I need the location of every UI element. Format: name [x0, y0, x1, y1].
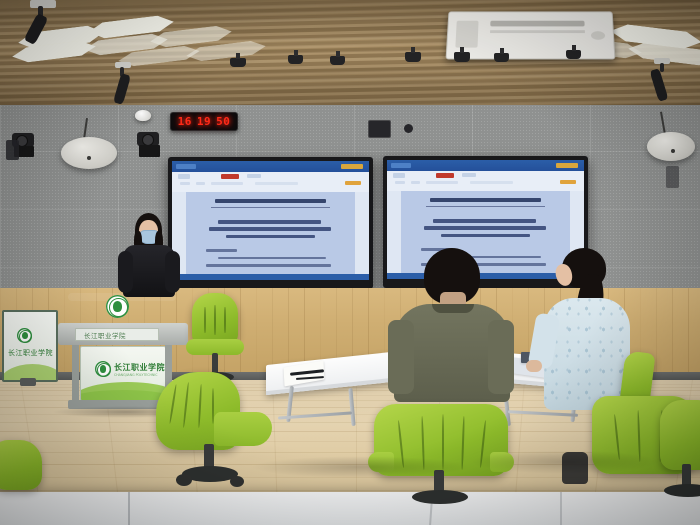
speaker-arm-right	[165, 251, 180, 293]
ribbon-button[interactable]	[180, 182, 190, 186]
ceiling-speaker	[330, 56, 345, 65]
led-clock: 16 19 50	[170, 112, 238, 131]
chair-slit	[214, 305, 216, 335]
green-plastic-chair[interactable]	[0, 440, 48, 500]
attendee-arm-right	[488, 320, 514, 394]
acoustic-reflector-dish	[61, 137, 117, 169]
person-speaker	[113, 213, 185, 305]
institution-logo	[95, 361, 111, 377]
title-bar-tab	[341, 164, 363, 170]
chair-slit	[224, 307, 226, 333]
foreground-table[interactable]	[0, 492, 700, 525]
ribbon-button[interactable]	[393, 173, 405, 177]
title-bar-tab	[176, 164, 196, 170]
standing-banner: 长江职业学院	[2, 310, 58, 382]
clock-minutes: 19	[197, 115, 211, 128]
title-bar-tab	[391, 163, 411, 169]
word-ribbon[interactable]	[387, 171, 584, 192]
attendee2-hand	[526, 360, 542, 372]
word-status-bar	[172, 274, 369, 280]
speaker-arm-left	[118, 251, 133, 293]
logo-core	[22, 332, 28, 339]
ribbon-button[interactable]	[178, 174, 190, 178]
ribbon-button[interactable]	[196, 182, 206, 186]
chair-back	[0, 440, 42, 490]
wall-speaker-left	[6, 140, 19, 160]
ceiling-speaker	[566, 50, 581, 59]
podium-leg	[72, 345, 79, 403]
institution-logo	[17, 328, 32, 343]
wood-grain-line	[256, 288, 257, 378]
word-title-bar	[387, 160, 584, 171]
ac-grill	[490, 21, 584, 27]
ribbon-button[interactable]	[411, 181, 421, 185]
doc-body-line	[206, 264, 331, 267]
green-plastic-chair[interactable]	[660, 400, 700, 500]
ribbon-button-accent[interactable]	[560, 180, 576, 184]
wood-grain-line	[0, 288, 1, 378]
doc-title-line	[218, 220, 321, 224]
logo-core	[100, 365, 106, 372]
green-swivel-chair[interactable]	[152, 370, 276, 500]
ribbon-button[interactable]	[470, 181, 513, 185]
word-ribbon[interactable]	[172, 172, 369, 193]
clock-seconds: 50	[216, 115, 230, 128]
ribbon-button[interactable]	[255, 182, 298, 186]
attendee-collar	[432, 304, 474, 313]
doc-title-line	[441, 234, 529, 238]
wall-control-box	[368, 120, 391, 138]
chair-slit	[212, 388, 214, 424]
ribbon-button[interactable]	[426, 181, 458, 185]
wall-speaker-right	[666, 166, 679, 188]
dish-hole	[671, 149, 675, 153]
clock-hours: 16	[178, 115, 192, 128]
ribbon-button[interactable]	[462, 173, 476, 177]
ceiling-speaker	[454, 52, 470, 62]
left-display-screen[interactable]	[172, 161, 369, 280]
chair-back	[660, 400, 700, 470]
word-title-bar	[172, 161, 369, 172]
ribbon-button-accent[interactable]	[436, 173, 454, 178]
camera-mount	[139, 145, 160, 157]
acoustic-reflector-dish	[647, 132, 695, 161]
chair-slit	[204, 307, 206, 333]
podium-name-plate-text: 长江职业学院	[84, 330, 126, 340]
ribbon-button-accent[interactable]	[345, 181, 361, 185]
ptz-camera	[137, 132, 159, 146]
person-attendee-center	[388, 248, 516, 408]
foreground-table-seam	[560, 492, 562, 525]
doc-header-line	[215, 199, 327, 203]
dish-hole	[87, 156, 91, 160]
podium-name-plate: 长江职业学院	[75, 328, 159, 341]
banner-text: 长江职业学院	[8, 348, 53, 358]
ac-vent	[455, 21, 478, 48]
ac-vent	[591, 31, 605, 40]
conference-room-photo: 16 19 50	[0, 0, 700, 525]
title-bar-tab	[556, 163, 578, 169]
ceiling-speaker	[494, 53, 509, 62]
attendee-arm-left	[388, 320, 414, 394]
podium-panel-subtitle: CHANGJIANG POLYTECHNIC	[114, 373, 157, 377]
ribbon-button-accent[interactable]	[221, 174, 239, 179]
ribbon-button[interactable]	[395, 181, 405, 185]
doc-title-line	[424, 226, 546, 230]
wall-sensor	[404, 124, 413, 133]
foreground-table-seam	[128, 492, 130, 525]
ac-grill	[490, 30, 585, 33]
word-document-page[interactable]	[186, 192, 355, 274]
doc-title-line	[226, 235, 314, 239]
ribbon-button[interactable]	[247, 174, 261, 178]
ceiling-speaker	[405, 52, 421, 62]
doc-title-line	[433, 219, 536, 223]
doc-header-rule	[426, 206, 545, 207]
spotlight-base	[30, 0, 56, 8]
left-display[interactable]	[168, 157, 373, 289]
chair-base	[664, 484, 700, 497]
chair-base	[412, 490, 468, 504]
chair-castor	[230, 476, 244, 487]
dome-camera	[135, 110, 151, 121]
doc-body-line	[218, 257, 326, 260]
banner-stand	[20, 378, 36, 386]
doc-header-line	[430, 198, 542, 202]
doc-header-rule	[211, 207, 330, 208]
spotlight-arm	[660, 63, 664, 72]
doc-title-line	[209, 227, 331, 231]
chair-castor	[176, 474, 192, 486]
floor-shadow	[250, 456, 470, 478]
cassette-air-conditioner	[446, 11, 616, 59]
ceiling-speaker	[230, 58, 246, 67]
ribbon-button[interactable]	[211, 182, 243, 186]
floor-shadow	[470, 450, 660, 474]
ceiling-speaker	[288, 55, 303, 64]
chair-armrest	[214, 412, 272, 446]
doc-body-line	[206, 249, 236, 252]
word-right-rail	[355, 192, 369, 274]
